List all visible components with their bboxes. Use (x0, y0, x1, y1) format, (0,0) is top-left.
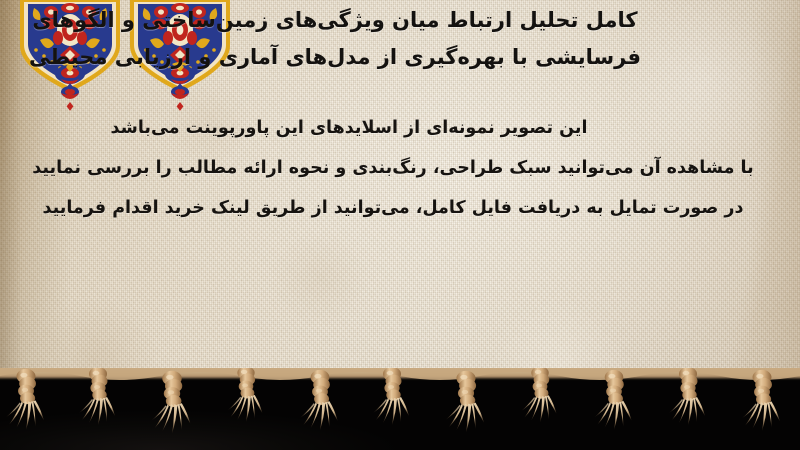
body-line-1: این تصویر نمونه‌ای از اسلایدهای این پاور… (0, 108, 788, 148)
slide-title: کامل تحلیل ارتباط میان ویژگی‌های زمین‌سا… (0, 2, 790, 76)
slide-body: این تصویر نمونه‌ای از اسلایدهای این پاور… (0, 108, 788, 228)
body-line-3: در صورت تمایل به دریافت فایل کامل، می‌تو… (0, 188, 788, 228)
carpet-fringe-band (0, 368, 800, 450)
body-line-2: با مشاهده آن می‌توانید سبک طراحی، رنگ‌بن… (0, 148, 788, 188)
title-line-2: فرسایشی با بهره‌گیری از مدل‌های آماری و … (0, 39, 790, 76)
title-line-1: کامل تحلیل ارتباط میان ویژگی‌های زمین‌سا… (0, 2, 790, 39)
carpet-fringe-tassels (0, 368, 800, 450)
slide-canvas: کامل تحلیل ارتباط میان ویژگی‌های زمین‌سا… (0, 0, 800, 450)
